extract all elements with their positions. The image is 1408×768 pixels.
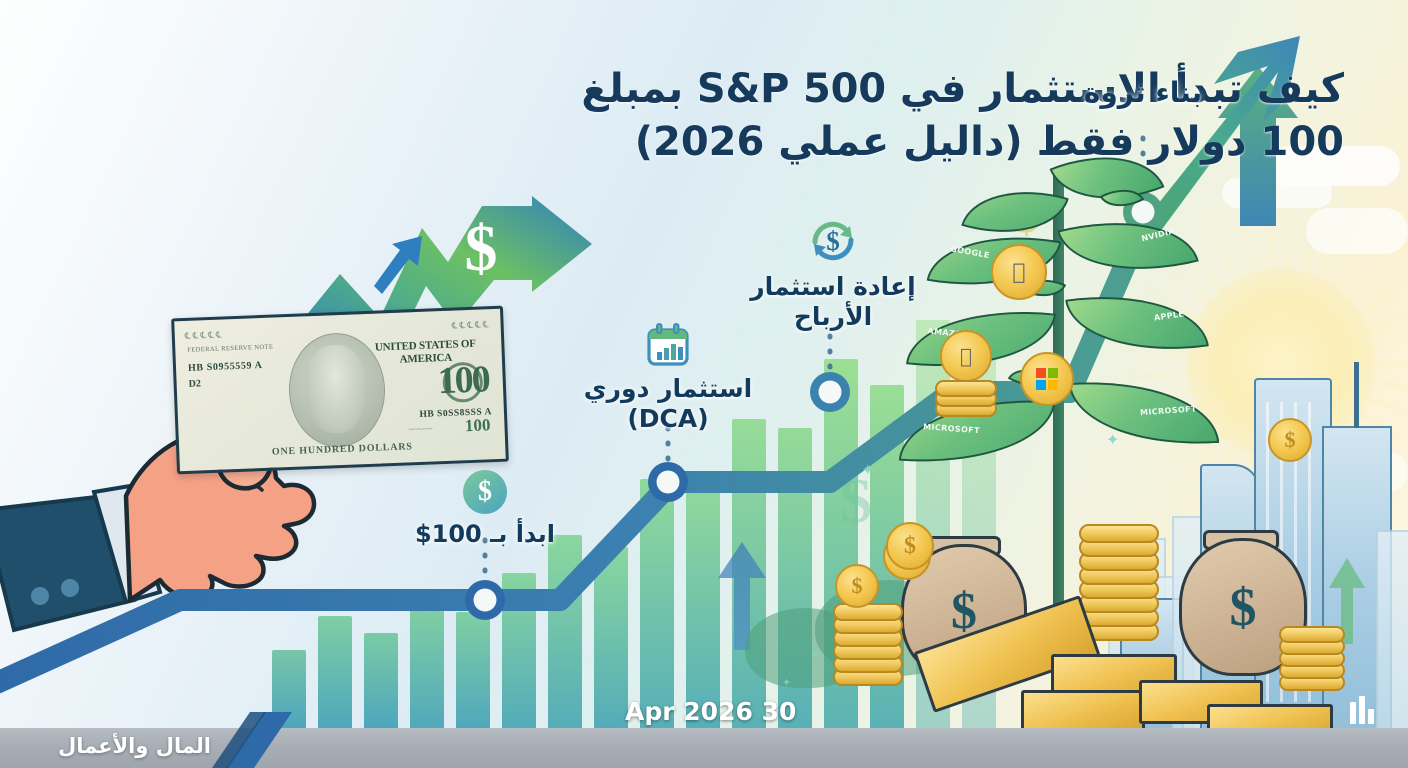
coin-stack	[1279, 614, 1341, 690]
infographic-canvas: $ $ $	[0, 0, 1408, 768]
milestone-label: ابدأ بـ 100$	[395, 520, 575, 548]
brand-name: المال والأعمال	[58, 734, 211, 758]
tree-brand-label: MICROSOFT	[1140, 404, 1197, 417]
coin-stack	[1079, 518, 1155, 638]
sparkle-icon: ✦	[1106, 430, 1119, 449]
money-pile: $ $	[855, 508, 1408, 728]
tree-leaf: MICROSOFT	[1069, 373, 1220, 453]
milestone-start-100[interactable]: $ ابدأ بـ 100$	[395, 470, 575, 548]
stock-coin-apple: 	[991, 244, 1047, 300]
dollar-coin-icon: $	[463, 470, 507, 514]
milestone-label: إعادة استثمار الأرباح	[728, 272, 938, 331]
date-stamp: 30 Apr 2026	[625, 697, 796, 726]
sparkle-icon: ✦	[782, 676, 791, 689]
coin-stack	[833, 594, 899, 684]
milestone-reinvest-profits[interactable]: $ إعادة استثمار الأرباح	[728, 216, 938, 331]
milestone-dca[interactable]: استثمار دوري (DCA)	[568, 322, 768, 433]
tree-brand-label: APPLE	[1153, 309, 1184, 322]
svg-text:$: $	[826, 226, 840, 256]
tree-brand-label: GOOGLE	[950, 244, 991, 260]
recycle-dollar-icon: $	[806, 216, 860, 266]
dollar-coin: $	[835, 564, 879, 608]
tree-leaf: NVIDIA	[1057, 199, 1199, 293]
milestone-build-wealth[interactable]: بناء ثروة	[1038, 76, 1248, 109]
sparkle-icon: ✦	[861, 460, 874, 479]
coin-stack	[935, 374, 993, 414]
milestone-label: استثمار دوري (DCA)	[568, 374, 768, 433]
stock-coin-microsoft	[1020, 352, 1074, 406]
money-bag-symbol: $	[1230, 576, 1257, 638]
tree-brand-label: MICROSOFT	[923, 422, 980, 435]
dollar-coin: $	[1268, 418, 1312, 462]
tree-leaf: APPLE	[1065, 281, 1209, 365]
sparkle-icon: ✦	[810, 648, 821, 663]
dollar-coin: $	[886, 522, 934, 570]
milestone-label: بناء ثروة	[1038, 76, 1248, 109]
tree-brand-label: NVIDIA	[1141, 226, 1176, 243]
calendar-chart-icon	[645, 322, 691, 368]
bar-chart-logo-icon	[1350, 696, 1372, 724]
